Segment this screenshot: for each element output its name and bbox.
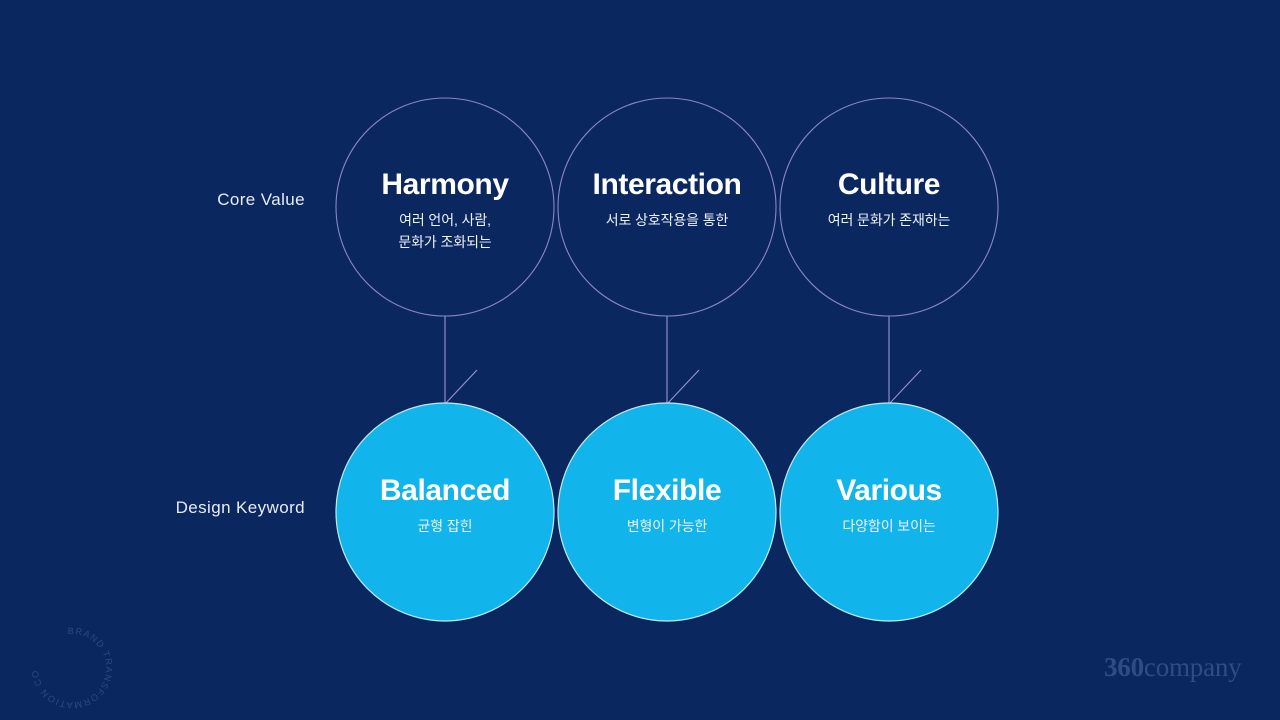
brand-badge-text: BRAND TRANSFORMATION COMPANY bbox=[22, 618, 114, 710]
design-keyword-subtitle: 균형 잡힌 bbox=[325, 516, 565, 538]
core-value-subtitle-line1: 여러 문화가 존재하는 bbox=[769, 210, 1009, 232]
design-keyword-title: Balanced bbox=[325, 474, 565, 507]
slide-canvas: Core Value Design Keyword Harmony 여러 언어,… bbox=[0, 0, 1280, 720]
core-value-title: Interaction bbox=[547, 168, 787, 201]
core-value-node-culture: Culture 여러 문화가 존재하는 bbox=[769, 168, 1009, 232]
connector-culture-to-various bbox=[889, 316, 921, 404]
core-value-subtitle-line2: 문화가 조화되는 bbox=[325, 232, 565, 254]
design-keyword-node-flexible: Flexible 변형이 가능한 bbox=[547, 474, 787, 538]
core-value-subtitle: 서로 상호작용을 통한 bbox=[547, 210, 787, 232]
design-keyword-subtitle: 다양함이 보이는 bbox=[769, 516, 1009, 538]
core-value-node-harmony: Harmony 여러 언어, 사람, 문화가 조화되는 bbox=[325, 168, 565, 253]
company-wordmark: 360company bbox=[1104, 652, 1241, 683]
design-keyword-subtitle: 변형이 가능한 bbox=[547, 516, 787, 538]
core-value-subtitle: 여러 문화가 존재하는 bbox=[769, 210, 1009, 232]
core-value-subtitle-line1: 여러 언어, 사람, bbox=[325, 210, 565, 232]
design-keyword-node-balanced: Balanced 균형 잡힌 bbox=[325, 474, 565, 538]
core-value-subtitle-line1: 서로 상호작용을 통한 bbox=[547, 210, 787, 232]
design-keyword-subtitle-line1: 다양함이 보이는 bbox=[769, 516, 1009, 538]
core-value-title: Culture bbox=[769, 168, 1009, 201]
design-keyword-node-various: Various 다양함이 보이는 bbox=[769, 474, 1009, 538]
brand-badge-graphic: BRAND TRANSFORMATION COMPANY bbox=[22, 618, 122, 718]
wordmark-number: 360 bbox=[1104, 652, 1144, 682]
core-value-title: Harmony bbox=[325, 168, 565, 201]
connector-harmony-to-balanced bbox=[445, 316, 477, 404]
design-keyword-subtitle-line1: 변형이 가능한 bbox=[547, 516, 787, 538]
wordmark-word: company bbox=[1144, 652, 1242, 682]
design-keyword-subtitle-line1: 균형 잡힌 bbox=[325, 516, 565, 538]
core-value-subtitle: 여러 언어, 사람, 문화가 조화되는 bbox=[325, 210, 565, 253]
brand-badge: BRAND TRANSFORMATION COMPANY bbox=[22, 618, 122, 718]
design-keyword-title: Flexible bbox=[547, 474, 787, 507]
design-keyword-title: Various bbox=[769, 474, 1009, 507]
connector-interaction-to-flexible bbox=[667, 316, 699, 404]
diagram-graphic bbox=[0, 0, 1280, 720]
core-value-node-interaction: Interaction 서로 상호작용을 통한 bbox=[547, 168, 787, 232]
